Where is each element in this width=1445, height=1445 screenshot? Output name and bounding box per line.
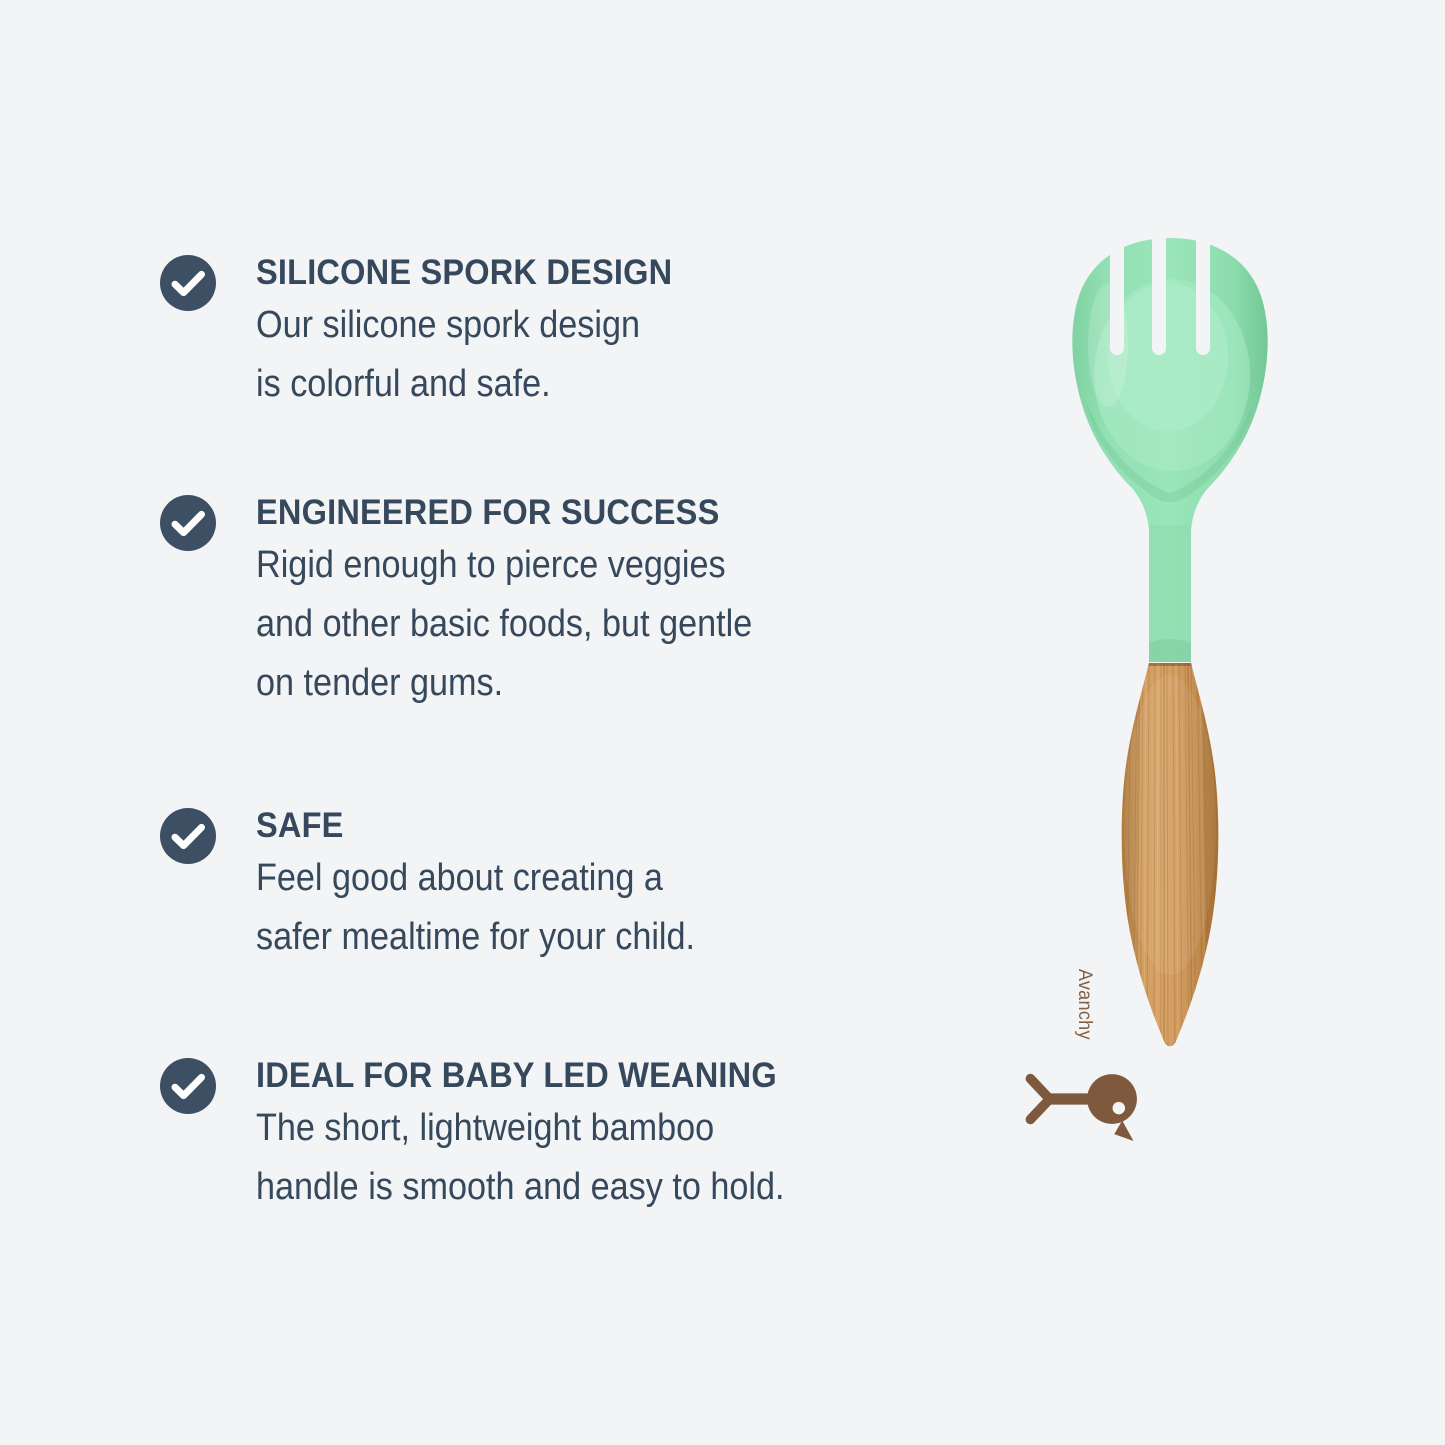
feature-heading: ENGINEERED FOR SUCCESS <box>256 495 929 530</box>
feature-line: and other basic foods, but gentle <box>256 595 908 654</box>
feature-item: IDEAL FOR BABY LED WEANING The short, li… <box>160 1058 980 1217</box>
product-image: Avanchy <box>1000 225 1340 1205</box>
feature-text: ENGINEERED FOR SUCCESS Rigid enough to p… <box>256 495 980 713</box>
check-circle-icon <box>160 808 216 864</box>
feature-line: on tender gums. <box>256 654 908 713</box>
check-circle-icon <box>160 255 216 311</box>
check-circle-icon <box>160 495 216 551</box>
feature-line: Feel good about creating a <box>256 849 908 908</box>
spork-bamboo-handle <box>1120 655 1220 1055</box>
feature-description: Our silicone spork design is colorful an… <box>256 296 980 414</box>
feature-line: safer mealtime for your child. <box>256 908 908 967</box>
feature-line: The short, lightweight bamboo <box>256 1099 908 1158</box>
feature-item: ENGINEERED FOR SUCCESS Rigid enough to p… <box>160 495 980 713</box>
feature-description: The short, lightweight bamboo handle is … <box>256 1099 980 1217</box>
feature-heading: IDEAL FOR BABY LED WEANING <box>256 1058 929 1093</box>
feature-line: handle is smooth and easy to hold. <box>256 1158 908 1217</box>
feature-line: Our silicone spork design <box>256 296 908 355</box>
feature-description: Rigid enough to pierce veggies and other… <box>256 536 980 713</box>
feature-text: SILICONE SPORK DESIGN Our silicone spork… <box>256 255 980 414</box>
infographic-canvas: SILICONE SPORK DESIGN Our silicone spork… <box>0 0 1445 1445</box>
feature-item: SILICONE SPORK DESIGN Our silicone spork… <box>160 255 980 414</box>
feature-item: SAFE Feel good about creating a safer me… <box>160 808 980 967</box>
check-circle-icon <box>160 1058 216 1114</box>
feature-heading: SAFE <box>256 808 929 843</box>
feature-line: Rigid enough to pierce veggies <box>256 536 908 595</box>
feature-text: SAFE Feel good about creating a safer me… <box>256 808 980 967</box>
spork-silicone-head <box>1072 227 1267 671</box>
feature-heading: SILICONE SPORK DESIGN <box>256 255 929 290</box>
feature-text: IDEAL FOR BABY LED WEANING The short, li… <box>256 1058 980 1217</box>
feature-line: is colorful and safe. <box>256 355 908 414</box>
feature-description: Feel good about creating a safer mealtim… <box>256 849 980 967</box>
